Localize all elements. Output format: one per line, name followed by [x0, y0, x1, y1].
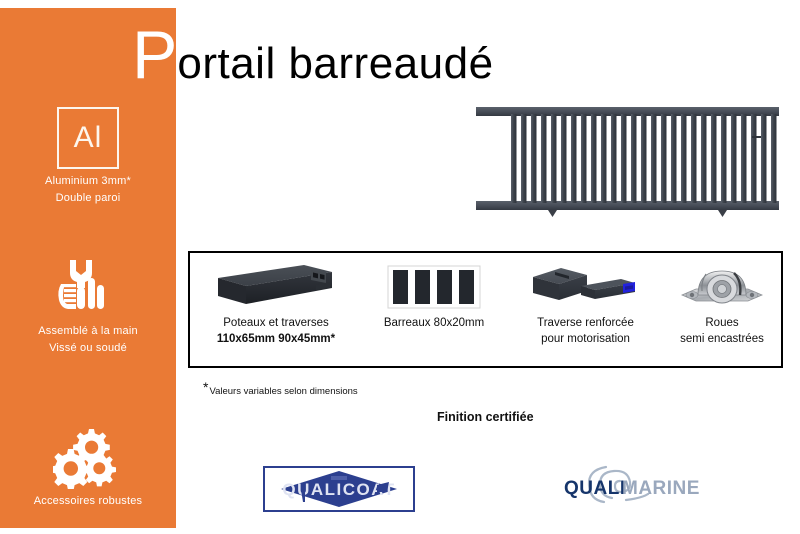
- footnote: *Valeurs variables selon dimensions: [203, 381, 358, 398]
- product-roues-detail: semi encastrées: [663, 331, 781, 347]
- footnote-asterisk: *: [203, 379, 208, 395]
- components-box: Poteaux et traverses 110x65mm 90x45mm* B…: [188, 251, 783, 368]
- footnote-text: Valeurs variables selon dimensions: [209, 386, 357, 397]
- post-profile-icon: [192, 253, 360, 315]
- feature-aluminium: Al Aluminium 3mm* Double paroi: [0, 103, 176, 207]
- feature-aluminium-line2: Double paroi: [0, 190, 176, 207]
- feature-assembly: Assemblé à la main Vissé ou soudé: [0, 253, 176, 357]
- product-roues-name: Roues: [663, 315, 781, 331]
- qualimarine-logo: QUALI MARINE: [556, 464, 716, 512]
- product-poteaux-dimensions: 110x65mm 90x45mm*: [192, 331, 360, 348]
- aluminium-square-icon: Al: [0, 103, 176, 173]
- page-title-initial: P: [132, 24, 177, 86]
- product-barreaux-name: Barreaux 80x20mm: [360, 315, 508, 331]
- product-traverse-usage: pour motorisation: [508, 331, 663, 347]
- bars-sample-icon: [360, 253, 508, 315]
- reinforced-crossbar-icon: [508, 253, 663, 315]
- product-poteaux-name: Poteaux et traverses: [192, 315, 360, 331]
- product-roues: Roues semi encastrées: [663, 253, 781, 370]
- product-traverse: Traverse renforcée pour motorisation: [508, 253, 663, 370]
- wrench-hand-icon: [0, 253, 176, 323]
- feature-assembly-line2: Vissé ou soudé: [0, 340, 176, 357]
- feature-accessories: Accessoires robustes: [0, 423, 176, 510]
- feature-accessories-line1: Accessoires robustes: [0, 493, 176, 510]
- qualicoat-logo: QUALICOAT: [263, 466, 415, 512]
- certification-title: Finition certifiée: [437, 410, 534, 424]
- datasheet-page: Al Aluminium 3mm* Double paroi: [0, 0, 800, 534]
- wheel-bearing-icon: [663, 253, 781, 315]
- page-title-rest: ortail barreaudé: [177, 33, 493, 95]
- qualimarine-wordmark-strong: QUALI: [564, 478, 626, 499]
- feature-assembly-line1: Assemblé à la main: [0, 323, 176, 340]
- page-title: P ortail barreaudé: [132, 24, 494, 86]
- qualimarine-wordmark-light: MARINE: [622, 478, 700, 499]
- sliding-gate-illustration: [470, 98, 785, 223]
- feature-aluminium-line1: Aluminium 3mm*: [0, 173, 176, 190]
- product-traverse-name: Traverse renforcée: [508, 315, 663, 331]
- product-barreaux: Barreaux 80x20mm: [360, 253, 508, 370]
- aluminium-symbol-label: Al: [57, 107, 119, 169]
- product-poteaux: Poteaux et traverses 110x65mm 90x45mm*: [192, 253, 360, 370]
- gears-icon: [0, 423, 176, 493]
